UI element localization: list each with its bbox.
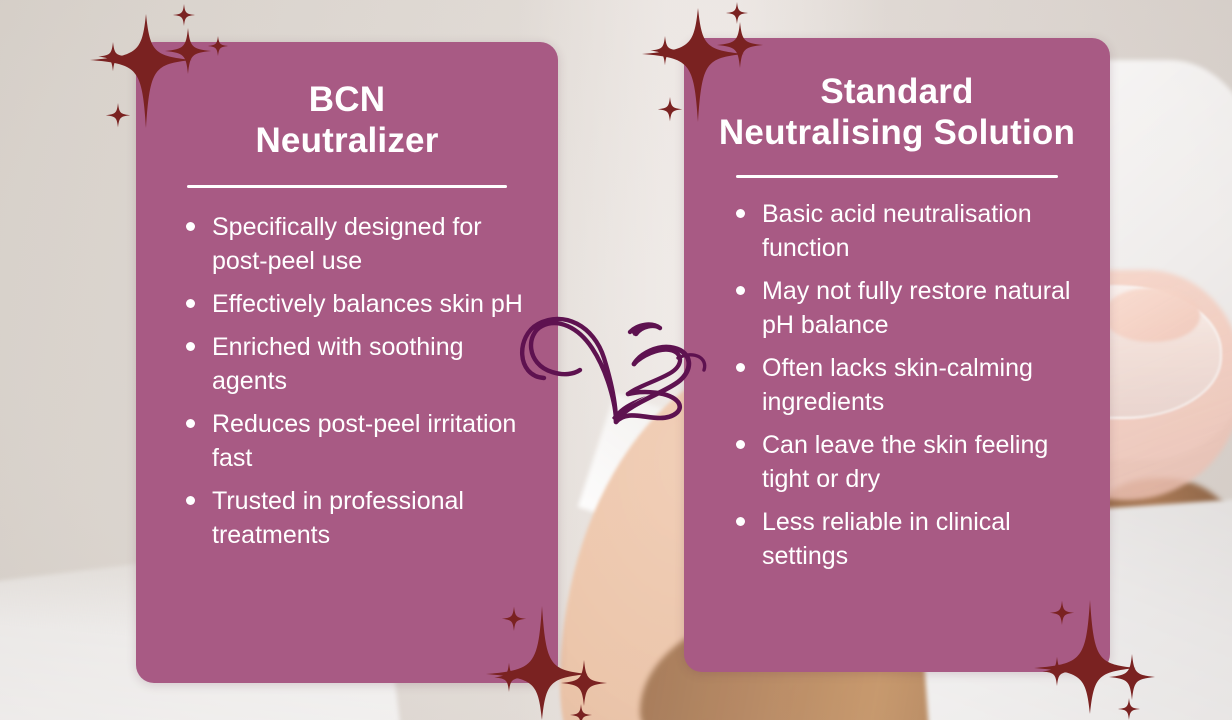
bullet-dot-icon xyxy=(736,440,745,449)
bullet-dot-icon xyxy=(186,419,195,428)
comparison-card-right: Standard Neutralising Solution Basic aci… xyxy=(684,38,1110,672)
card-right-feature-list: Basic acid neutralisation function May n… xyxy=(710,197,1084,573)
list-item: Trusted in professional treatments xyxy=(182,484,526,552)
card-left-content: BCN Neutralizer Specifically designed fo… xyxy=(136,42,558,683)
list-item-label: Reduces post-peel irritation fast xyxy=(212,410,516,472)
comparison-card-left: BCN Neutralizer Specifically designed fo… xyxy=(136,42,558,683)
list-item: Often lacks skin-calming ingredients xyxy=(732,351,1078,419)
list-item: Effectively balances skin pH xyxy=(182,287,526,321)
card-right-title-line2: Neutralising Solution xyxy=(710,113,1084,154)
list-item-label: Can leave the skin feeling tight or dry xyxy=(762,431,1048,493)
card-right-title-line1: Standard xyxy=(710,72,1084,113)
card-left-feature-list: Specifically designed for post-peel use … xyxy=(162,210,532,552)
card-right-content: Standard Neutralising Solution Basic aci… xyxy=(684,38,1110,672)
list-item-label: Effectively balances skin pH xyxy=(212,290,523,318)
list-item: Less reliable in clinical settings xyxy=(732,505,1078,573)
card-right-title: Standard Neutralising Solution xyxy=(710,72,1084,153)
list-item: Can leave the skin feeling tight or dry xyxy=(732,428,1078,496)
bullet-dot-icon xyxy=(736,286,745,295)
bullet-dot-icon xyxy=(736,209,745,218)
infographic-canvas: BCN Neutralizer Specifically designed fo… xyxy=(0,0,1232,720)
list-item: Reduces post-peel irritation fast xyxy=(182,407,526,475)
bullet-dot-icon xyxy=(186,222,195,231)
list-item-label: Specifically designed for post-peel use xyxy=(212,213,482,275)
bullet-dot-icon xyxy=(736,517,745,526)
list-item: Specifically designed for post-peel use xyxy=(182,210,526,278)
bullet-dot-icon xyxy=(186,299,195,308)
list-item-label: Less reliable in clinical settings xyxy=(762,508,1011,570)
card-left-title-line2: Neutralizer xyxy=(162,121,532,162)
list-item-label: Enriched with soothing agents xyxy=(212,333,464,395)
list-item-label: May not fully restore natural pH balance xyxy=(762,277,1070,339)
list-item-label: Often lacks skin-calming ingredients xyxy=(762,354,1033,416)
card-left-title-divider xyxy=(187,185,507,188)
bullet-dot-icon xyxy=(186,496,195,505)
list-item-label: Basic acid neutralisation function xyxy=(762,200,1032,262)
bullet-dot-icon xyxy=(736,363,745,372)
list-item-label: Trusted in professional treatments xyxy=(212,487,464,549)
bullet-dot-icon xyxy=(186,342,195,351)
list-item: May not fully restore natural pH balance xyxy=(732,274,1078,342)
card-left-title-line1: BCN xyxy=(162,80,532,121)
list-item: Enriched with soothing agents xyxy=(182,330,526,398)
card-left-title: BCN Neutralizer xyxy=(162,80,532,161)
list-item: Basic acid neutralisation function xyxy=(732,197,1078,265)
card-right-title-divider xyxy=(736,175,1058,178)
